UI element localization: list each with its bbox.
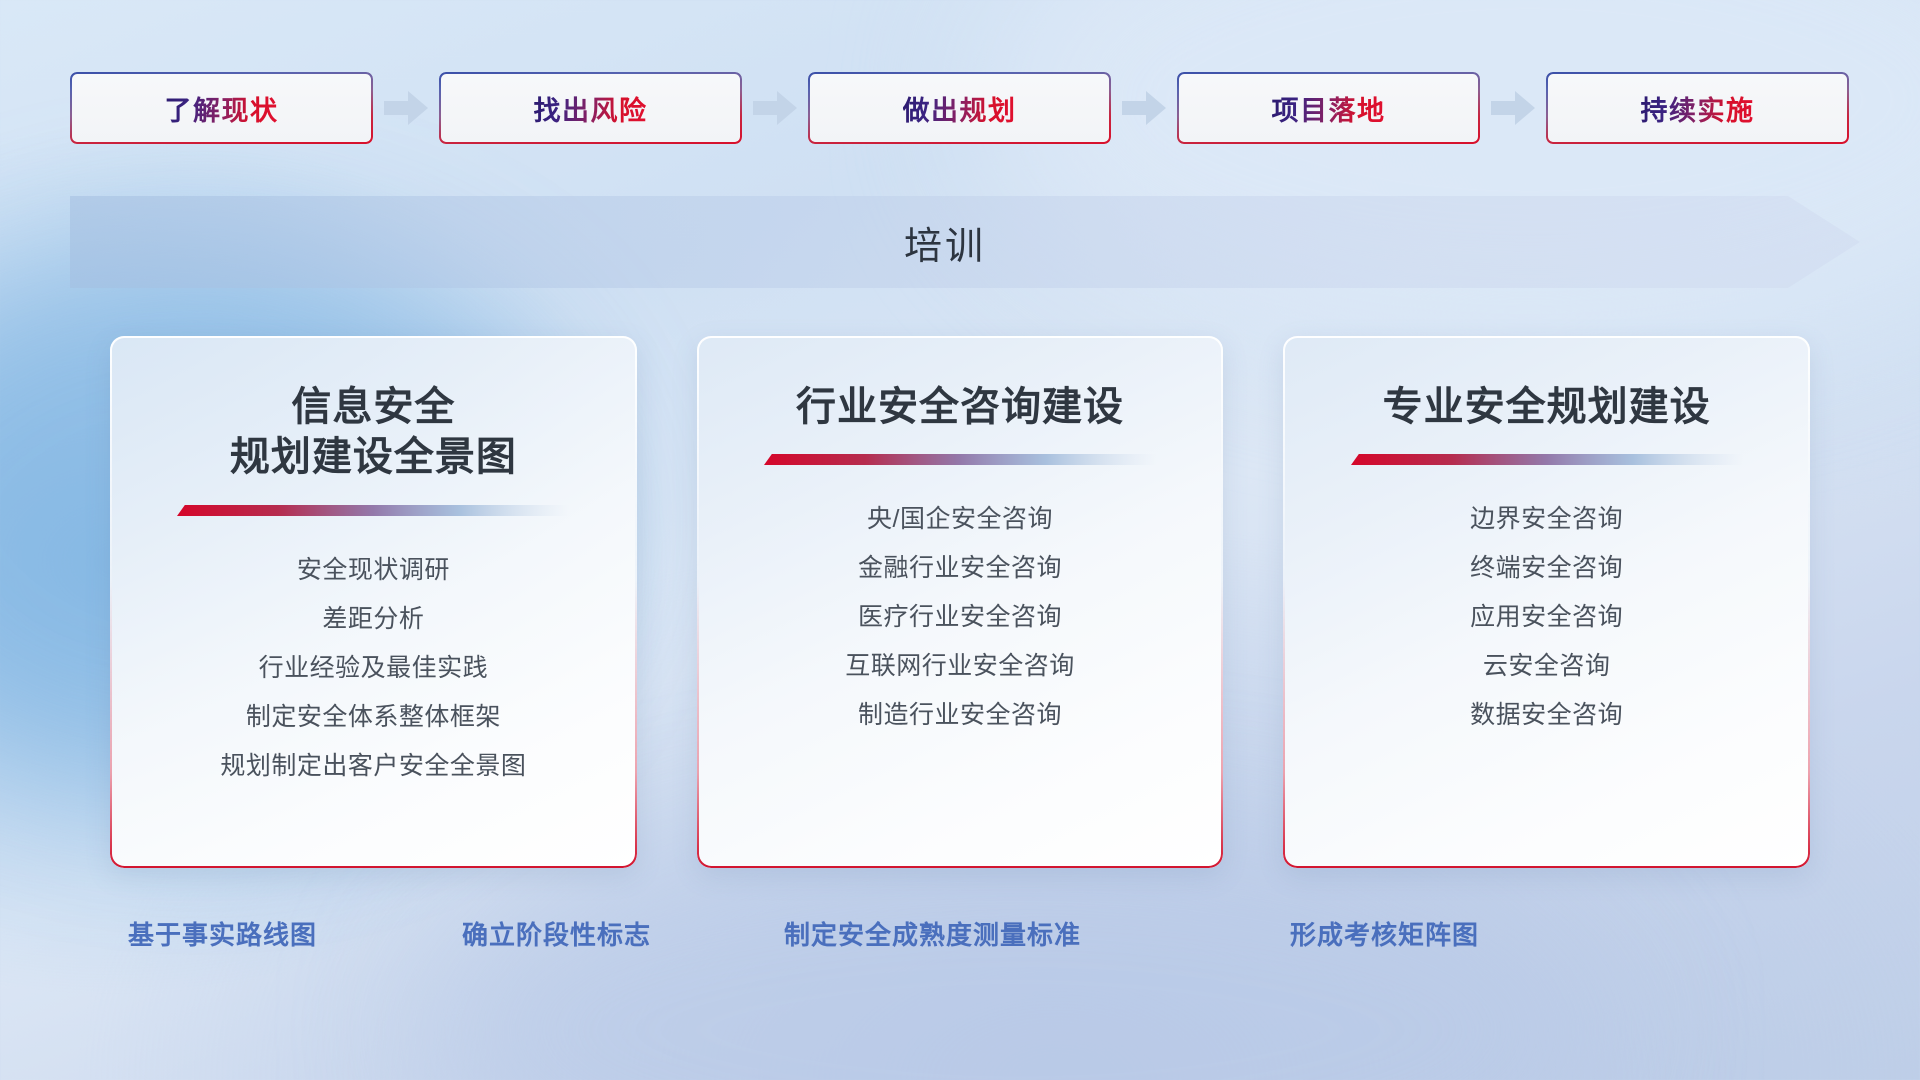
arrow-right-icon bbox=[373, 72, 439, 144]
card-title: 专业安全规划建设 bbox=[1383, 382, 1711, 432]
list-item: 差距分析 bbox=[220, 595, 526, 644]
list-item: 应用安全咨询 bbox=[1470, 593, 1623, 642]
outcome-caption: 确立阶段性标志 bbox=[462, 915, 651, 952]
card-divider bbox=[1351, 454, 1743, 465]
card-item-list: 央/国企安全咨询 金融行业安全咨询 医疗行业安全咨询 互联网行业安全咨询 制造行… bbox=[845, 495, 1075, 740]
step-item-0[interactable]: 了解现状 bbox=[70, 72, 373, 144]
card-item-list: 安全现状调研 差距分析 行业经验及最佳实践 制定安全体系整体框架 规划制定出客户… bbox=[220, 546, 526, 791]
outcome-caption: 形成考核矩阵图 bbox=[1290, 915, 1479, 952]
list-item: 云安全咨询 bbox=[1470, 642, 1623, 691]
step-label: 了解现状 bbox=[165, 89, 279, 128]
card-title-line2: 规划建设全景图 bbox=[230, 432, 517, 482]
list-item: 规划制定出客户安全全景图 bbox=[220, 742, 526, 791]
outcome-caption: 基于事实路线图 bbox=[128, 915, 317, 952]
list-item: 边界安全咨询 bbox=[1470, 495, 1623, 544]
outcome-caption-row: 基于事实路线图 确立阶段性标志 制定安全成熟度测量标准 形成考核矩阵图 bbox=[0, 915, 1920, 963]
process-step-flow: 了解现状 找出风险 做出规划 项目落地 持续实施 bbox=[70, 72, 1850, 144]
card-title-line1: 行业安全咨询建设 bbox=[796, 382, 1124, 432]
list-item: 制造行业安全咨询 bbox=[845, 691, 1075, 740]
arrow-right-icon bbox=[1111, 72, 1177, 144]
card-divider bbox=[764, 454, 1156, 465]
list-item: 互联网行业安全咨询 bbox=[845, 642, 1075, 691]
list-item: 央/国企安全咨询 bbox=[845, 495, 1075, 544]
list-item: 制定安全体系整体框架 bbox=[220, 693, 526, 742]
step-label: 找出风险 bbox=[534, 89, 648, 128]
capability-card[interactable]: 专业安全规划建设 bbox=[1283, 336, 1810, 868]
capability-card[interactable]: 信息安全 规划建设全景图 bbox=[110, 336, 637, 868]
card-title: 行业安全咨询建设 bbox=[796, 382, 1124, 432]
outcome-caption: 制定安全成熟度测量标准 bbox=[784, 915, 1081, 952]
list-item: 行业经验及最佳实践 bbox=[220, 644, 526, 693]
card-divider bbox=[177, 505, 569, 516]
banner-title: 培训 bbox=[70, 196, 1860, 288]
step-item-2[interactable]: 做出规划 bbox=[808, 72, 1111, 144]
capability-card[interactable]: 行业安全咨询建设 bbox=[697, 336, 1224, 868]
list-item: 金融行业安全咨询 bbox=[845, 544, 1075, 593]
capability-card-row: 信息安全 规划建设全景图 bbox=[110, 336, 1810, 868]
step-item-3[interactable]: 项目落地 bbox=[1177, 72, 1480, 144]
step-label: 项目落地 bbox=[1272, 89, 1386, 128]
training-banner: 培训 bbox=[70, 196, 1860, 288]
list-item: 数据安全咨询 bbox=[1470, 691, 1623, 740]
step-item-1[interactable]: 找出风险 bbox=[439, 72, 742, 144]
arrow-right-icon bbox=[742, 72, 808, 144]
list-item: 安全现状调研 bbox=[220, 546, 526, 595]
card-title-line1: 信息安全 bbox=[230, 382, 517, 432]
card-title-line1: 专业安全规划建设 bbox=[1383, 382, 1711, 432]
step-label: 持续实施 bbox=[1641, 89, 1755, 128]
card-item-list: 边界安全咨询 终端安全咨询 应用安全咨询 云安全咨询 数据安全咨询 bbox=[1470, 495, 1623, 740]
list-item: 医疗行业安全咨询 bbox=[845, 593, 1075, 642]
list-item: 终端安全咨询 bbox=[1470, 544, 1623, 593]
step-item-4[interactable]: 持续实施 bbox=[1546, 72, 1849, 144]
step-label: 做出规划 bbox=[903, 89, 1017, 128]
background-glow-top-right bbox=[980, 0, 1920, 360]
arrow-right-icon bbox=[1480, 72, 1546, 144]
card-title: 信息安全 规划建设全景图 bbox=[230, 382, 517, 483]
